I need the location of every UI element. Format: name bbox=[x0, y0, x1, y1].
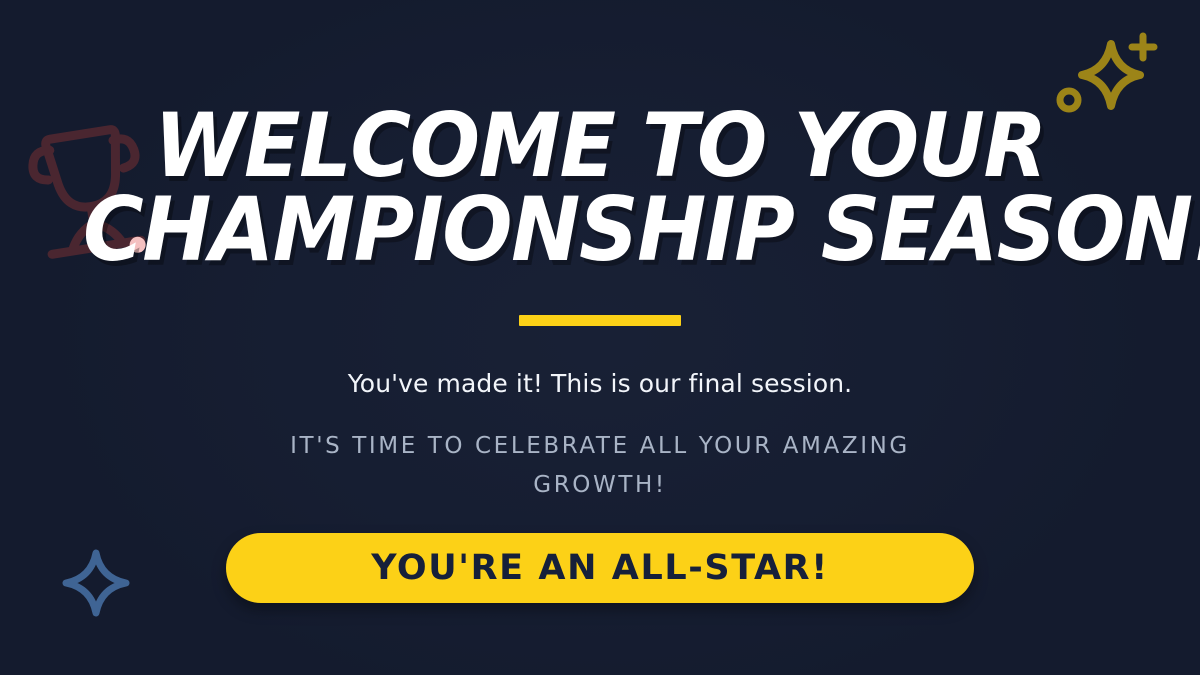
slide-content: WELCOME TO YOUR CHAMPIONSHIP SEASON! You… bbox=[0, 0, 1200, 675]
page-title-line-1: WELCOME TO YOUR bbox=[83, 104, 1117, 188]
page-title-line-2: CHAMPIONSHIP SEASON! bbox=[83, 188, 1117, 272]
caption-text: IT'S TIME TO CELEBRATE ALL YOUR AMAZING … bbox=[250, 427, 950, 506]
subtitle-text: You've made it! This is our final sessio… bbox=[348, 369, 852, 398]
slide-canvas: WELCOME TO YOUR CHAMPIONSHIP SEASON! You… bbox=[0, 0, 1200, 675]
all-star-cta-button[interactable]: YOU'RE AN ALL-STAR! bbox=[226, 533, 974, 603]
accent-divider bbox=[519, 315, 681, 326]
